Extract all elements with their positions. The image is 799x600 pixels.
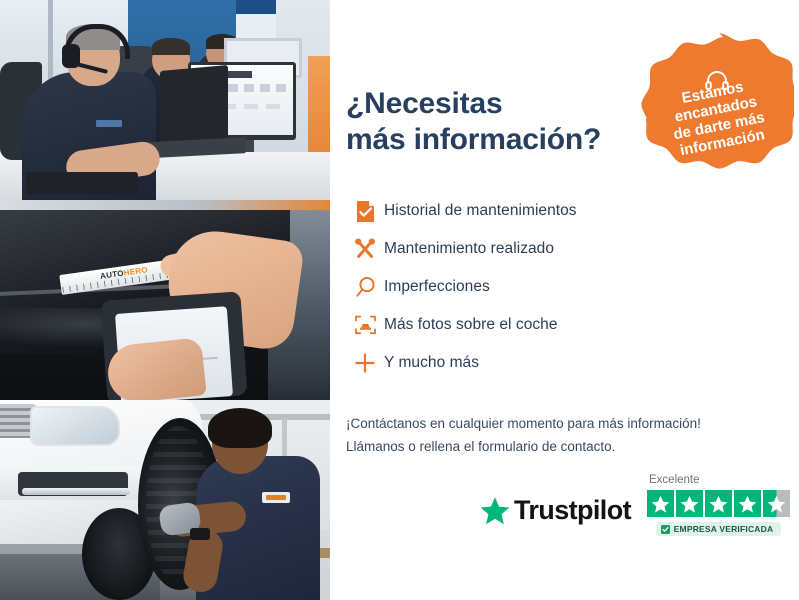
headline-line-2: más información? — [346, 122, 646, 158]
rating-star-4 — [734, 490, 761, 517]
feature-item-mucho-mas: Y mucho más — [346, 344, 676, 382]
trustpilot-widget[interactable]: Trustpilot Excelente — [480, 474, 790, 536]
ruler-logo-auto: AUTO — [100, 269, 125, 281]
call-center-agent-photo — [0, 0, 330, 200]
rating-stars — [647, 490, 790, 517]
car-frame-icon — [346, 314, 384, 336]
car-inspection-photo: AUTOHERO — [0, 200, 330, 400]
contact-line-1: ¡Contáctanos en cualquier momento para m… — [346, 412, 786, 435]
verified-label: EMPRESA VERIFICADA — [674, 524, 774, 534]
headline-line-1: ¿Necesitas — [346, 87, 502, 120]
rating-star-3 — [705, 490, 732, 517]
mechanic-uniform-badge — [262, 492, 290, 503]
trustpilot-name: Trustpilot — [514, 495, 631, 526]
feature-label: Historial de mantenimientos — [384, 202, 577, 220]
feature-item-mantenimiento: Mantenimiento realizado — [346, 230, 676, 268]
plus-icon — [346, 352, 384, 374]
headset-icon — [704, 70, 730, 92]
feature-item-imperfecciones: Imperfecciones — [346, 268, 676, 306]
starburst-badge: Estamos encantados de darte más informac… — [636, 26, 794, 184]
feature-label: Más fotos sobre el coche — [384, 316, 558, 334]
page-title: ¿Necesitas más información? — [346, 86, 646, 158]
feature-item-fotos: Más fotos sobre el coche — [346, 306, 676, 344]
trustpilot-star-icon — [480, 496, 510, 525]
ruler-logo-hero: HERO — [123, 265, 148, 277]
desk-tablet — [26, 172, 138, 194]
rating-label: Excelente — [649, 474, 700, 486]
laptop-screen — [160, 65, 228, 145]
rating-star-5-half — [763, 490, 790, 517]
feature-label: Mantenimiento realizado — [384, 240, 554, 258]
rating-star-1 — [647, 490, 674, 517]
info-poster: AUTOHERO — [0, 0, 799, 600]
document-check-icon — [346, 200, 384, 223]
uniform-logo — [96, 120, 122, 127]
trustpilot-logo[interactable]: Trustpilot — [480, 495, 631, 526]
verified-business-badge: EMPRESA VERIFICADA — [656, 522, 782, 536]
photo-column: AUTOHERO — [0, 0, 330, 600]
feature-list: Historial de mantenimientos Mantenimient… — [346, 192, 676, 382]
mechanic-wheel-photo — [0, 400, 330, 600]
car-chrome-trim — [22, 488, 130, 495]
feature-label: Y mucho más — [384, 354, 479, 372]
tools-cross-icon — [346, 238, 384, 260]
verified-check-icon — [661, 525, 670, 534]
colleague-hair — [152, 38, 190, 55]
rating-star-2 — [676, 490, 703, 517]
starburst-shape-icon — [636, 26, 794, 184]
feature-label: Imperfecciones — [384, 278, 490, 296]
trustpilot-rating: Excelente — [647, 474, 790, 536]
car-headlight — [30, 406, 120, 446]
mechanic-watch — [190, 528, 210, 540]
magnifier-icon — [346, 276, 384, 298]
mechanic-hair — [208, 408, 272, 448]
contact-line-2: Llámanos o rellena el formulario de cont… — [346, 435, 786, 458]
content-panel: ¿Necesitas más información? Estamos enca… — [330, 0, 799, 600]
upper-background-strip — [0, 200, 330, 210]
contact-copy: ¡Contáctanos en cualquier momento para m… — [346, 412, 786, 458]
feature-item-historial: Historial de mantenimientos — [346, 192, 676, 230]
